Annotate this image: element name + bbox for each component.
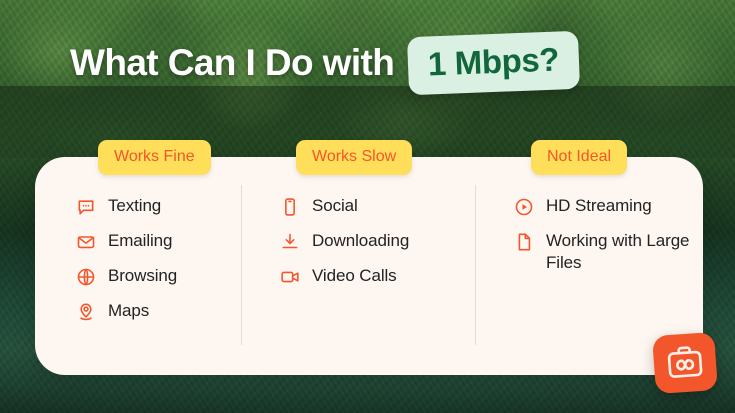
file-document-icon <box>514 232 534 252</box>
list-item-label: HD Streaming <box>546 195 652 217</box>
list-item: Working with Large Files <box>514 230 703 274</box>
toolbox-infinity-logo[interactable] <box>652 332 718 394</box>
column-works-fine: Texting Emailing <box>35 157 242 375</box>
list-item: Video Calls <box>280 265 477 287</box>
list-item-label: Emailing <box>108 230 172 252</box>
infographic-canvas: What Can I Do with 1 Mbps? Works Fine Wo… <box>0 0 735 413</box>
list-item: Maps <box>76 300 242 322</box>
list-item-label: Social <box>312 195 358 217</box>
column-works-slow: Social Downloading <box>242 157 477 375</box>
list-item-label: Video Calls <box>312 265 397 287</box>
play-circle-icon <box>514 197 534 217</box>
list-item-label: Maps <box>108 300 149 322</box>
list-item: Downloading <box>280 230 477 252</box>
map-pin-icon <box>76 302 96 322</box>
globe-icon <box>76 267 96 287</box>
headline: What Can I Do with 1 Mbps? <box>70 34 579 92</box>
chat-bubble-icon <box>76 197 96 217</box>
list-item: Texting <box>76 195 242 217</box>
columns-container: Texting Emailing <box>35 157 703 375</box>
download-icon <box>280 232 300 252</box>
list-item-label: Downloading <box>312 230 409 252</box>
mobile-phone-icon <box>280 197 300 217</box>
envelope-icon <box>76 232 96 252</box>
list-item-label: Texting <box>108 195 161 217</box>
headline-speed-badge: 1 Mbps? <box>407 31 580 96</box>
list-item: HD Streaming <box>514 195 703 217</box>
list-item-label: Working with Large Files <box>546 230 703 274</box>
list-item: Emailing <box>76 230 242 252</box>
list-item: Social <box>280 195 477 217</box>
list-item: Browsing <box>76 265 242 287</box>
headline-text: What Can I Do with <box>70 42 394 84</box>
list-item-label: Browsing <box>108 265 177 287</box>
video-camera-icon <box>280 267 300 287</box>
